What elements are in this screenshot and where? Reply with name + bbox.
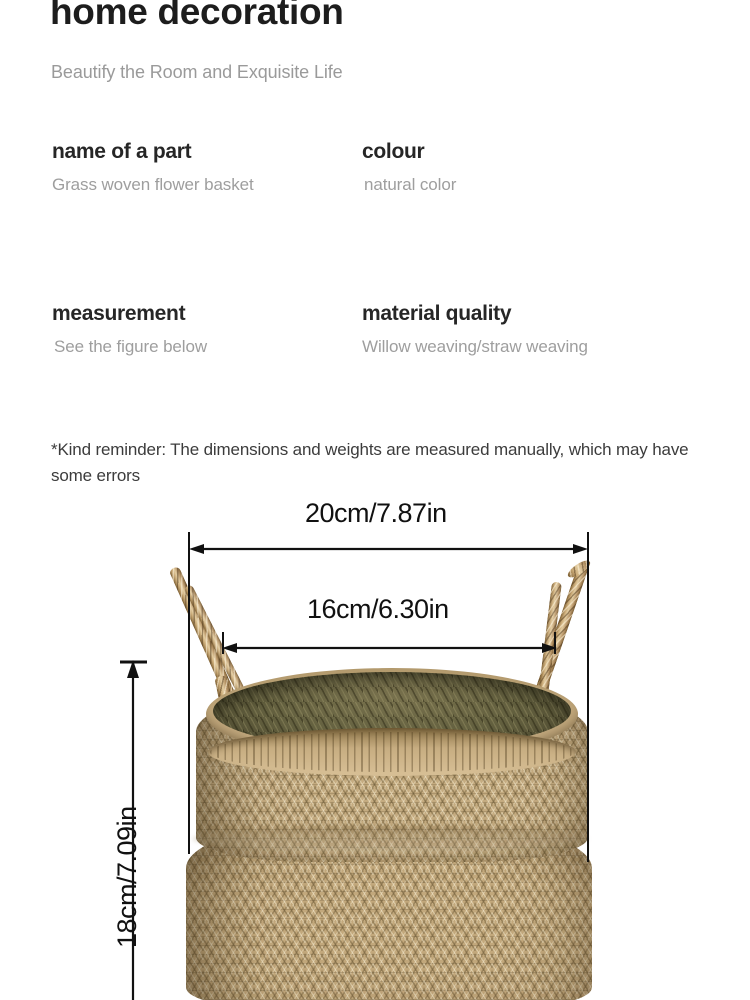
kind-reminder-note: *Kind reminder: The dimensions and weigh… xyxy=(51,437,731,490)
spec-item-name-of-a-part: name of a part Grass woven flower basket xyxy=(52,140,254,195)
dimension-label-height: 18cm/7.09in xyxy=(112,806,143,948)
spec-value: Willow weaving/straw weaving xyxy=(362,338,588,357)
spec-label: material quality xyxy=(362,302,588,325)
page-title: home decoration xyxy=(50,0,344,34)
extension-line-right xyxy=(587,532,589,862)
spec-label: name of a part xyxy=(52,140,254,163)
dimension-label-top-width: 20cm/7.87in xyxy=(305,498,447,529)
spec-value: natural color xyxy=(364,176,456,195)
spec-item-measurement: measurement See the figure below xyxy=(52,302,207,357)
spec-value: Grass woven flower basket xyxy=(52,176,254,195)
dimension-arrow-horizontal-inner xyxy=(222,638,558,658)
dimension-arrow-horizontal-outer xyxy=(189,539,589,559)
spec-item-material-quality: material quality Willow weaving/straw we… xyxy=(362,302,588,357)
basket-fold-line xyxy=(192,826,588,852)
dimension-label-inner-width: 16cm/6.30in xyxy=(307,594,449,625)
spec-item-colour: colour natural color xyxy=(362,140,456,195)
spec-label: colour xyxy=(362,140,456,163)
product-dimension-figure: 20cm/7.87in 16cm/6.30in 18cm/7.09in xyxy=(0,490,750,1000)
page-subtitle: Beautify the Room and Exquisite Life xyxy=(51,62,343,83)
basket-rim-stitching xyxy=(210,732,574,772)
spec-label: measurement xyxy=(52,302,207,325)
spec-value: See the figure below xyxy=(54,338,207,357)
extension-line-left xyxy=(188,532,190,854)
